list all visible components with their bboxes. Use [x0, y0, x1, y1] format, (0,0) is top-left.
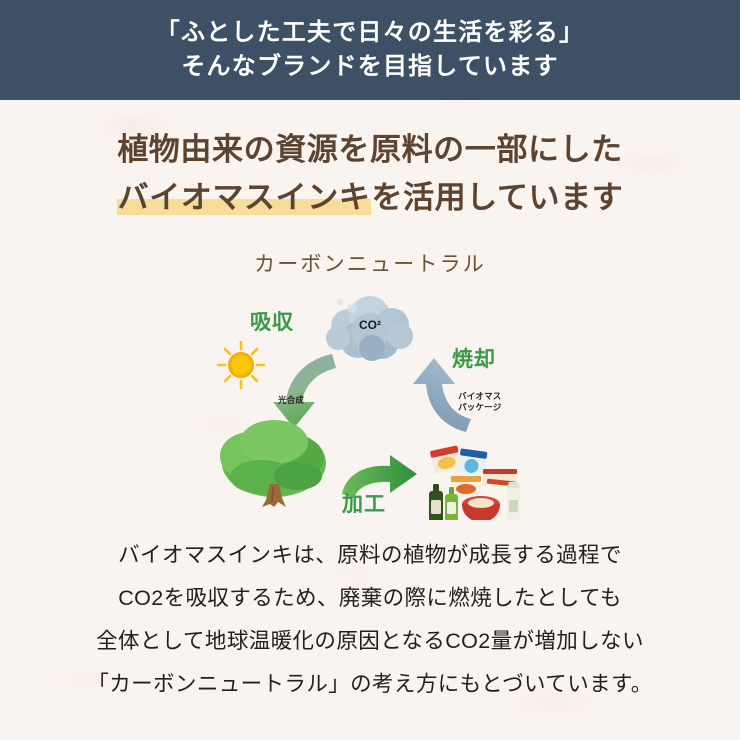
header-line-2: そんなブランドを目指しています: [181, 50, 558, 84]
sun-icon: [218, 342, 264, 388]
diagram-label-biomass-package: バイオマス パッケージ: [458, 391, 502, 413]
body-line-2: CO2を吸収するため、廃棄の際に燃焼したとしても: [0, 577, 740, 620]
body-line-3: 全体として地球温暖化の原因となるCO2量が増加しない: [0, 620, 740, 663]
package-label-line-2: パッケージ: [458, 402, 502, 413]
diagram-label-process: 加工: [342, 488, 386, 518]
package-label-line-1: バイオマス: [458, 391, 502, 402]
diagram-label-burn: 焼却: [452, 343, 496, 373]
page-title: 植物由来の資源を原料の一部にした バイオマスインキを活用しています: [0, 126, 740, 222]
body-line-4: 「カーボンニュートラル」の考え方にもとづいています。: [0, 663, 740, 706]
tree-icon: [220, 420, 326, 507]
body-paragraph: バイオマスインキは、原料の植物が成長する過程で CO2を吸収するため、廃棄の際に…: [0, 534, 740, 706]
heading-line-2-rest: を活用しています: [371, 180, 623, 215]
co2-cloud-text: CO²: [359, 318, 381, 332]
header-banner: 「ふとした工夫で日々の生活を彩る」 そんなブランドを目指しています: [0, 0, 740, 100]
header-line-1: 「ふとした工夫で日々の生活を彩る」: [156, 16, 584, 50]
infographic-page: 「ふとした工夫で日々の生活を彩る」 そんなブランドを目指しています 植物由来の資…: [0, 0, 740, 740]
bottle-dark: [429, 484, 443, 520]
carbon-neutral-diagram: カーボンニュートラル: [120, 248, 620, 520]
heading-line-1: 植物由来の資源を原料の一部にした: [0, 126, 740, 174]
absorption-arrow-icon: [273, 354, 336, 428]
heading-highlight-term: バイオマスインキ: [117, 180, 372, 215]
diagram-label-photosynthesis: 光合成: [278, 395, 304, 406]
biomass-packages-icon: [429, 445, 520, 520]
diagram-title: カーボンニュートラル: [120, 248, 620, 278]
heading-line-2: バイオマスインキを活用しています: [0, 174, 740, 222]
diagram-label-absorb: 吸収: [250, 306, 294, 336]
carton-container: [507, 482, 520, 520]
body-line-1: バイオマスインキは、原料の植物が成長する過程で: [0, 534, 740, 577]
bowl-container: [462, 496, 500, 520]
